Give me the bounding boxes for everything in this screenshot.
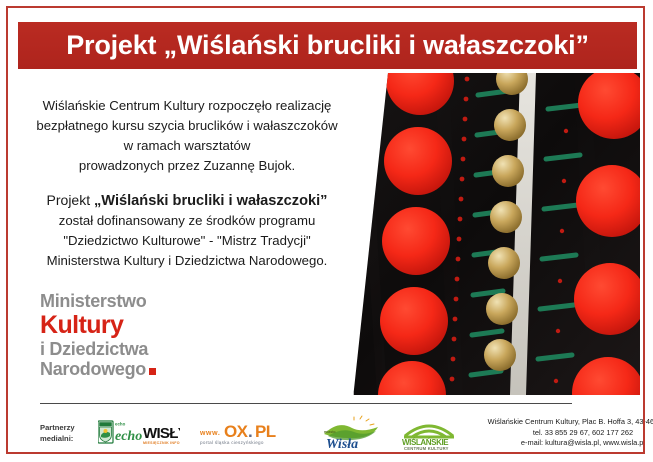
svg-text:miasto: miasto: [324, 430, 336, 434]
wisla-crest-icon: [98, 421, 113, 443]
svg-text:www.: www.: [200, 430, 220, 437]
funding-paragraph: Projekt „Wiślański brucliki i wałaszczok…: [8, 190, 366, 271]
funding-line-2: został dofinansowany ze środków programu: [8, 211, 366, 231]
ministry-logo-red-square: [149, 368, 156, 375]
ox-pl-logo[interactable]: www. OX . PL portal śląska cieszyńskiego: [200, 420, 290, 446]
media-partners-label: Partnerzy medialni:: [40, 422, 92, 444]
intro-paragraph: Wiślańskie Centrum Kultury rozpoczęło re…: [8, 96, 366, 176]
intro-line-4: prowadzonych przez Zuzannę Bujok.: [8, 156, 366, 176]
svg-text:PL: PL: [255, 422, 276, 441]
ministry-logo-line-4-text: Narodowego: [40, 359, 146, 379]
contact-email-web: e-mail: kultura@wisla.pl, www.wisla.pl: [478, 438, 653, 448]
contact-info: Wiślańskie Centrum Kultury, Plac B. Hoff…: [478, 417, 653, 448]
ministry-logo-line-2: Kultury: [40, 312, 156, 339]
funding-line-1-prefix: Projekt: [47, 192, 94, 208]
ministry-logo-line-1: Ministerstwo: [40, 292, 156, 311]
funding-line-3: "Dziedzictwo Kulturowe" - "Mistrz Tradyc…: [8, 231, 366, 251]
contact-address: Wiślańskie Centrum Kultury, Plac B. Hoff…: [478, 417, 653, 427]
intro-line-1: Wiślańskie Centrum Kultury rozpoczęło re…: [8, 96, 366, 116]
funding-line-4: Ministerstwa Kultury i Dziedzictwa Narod…: [8, 251, 366, 271]
intro-line-3: w ramach warsztatów: [8, 136, 366, 156]
svg-text:.: .: [248, 422, 253, 441]
svg-text:echo: echo: [115, 422, 126, 427]
svg-text:echo: echo: [115, 429, 142, 444]
folk-vest-photo: [352, 73, 640, 395]
svg-text:OX: OX: [224, 422, 249, 441]
wisla-town-logo[interactable]: miasto Wisła: [320, 415, 382, 451]
footer-divider: [40, 403, 572, 404]
wislanskie-centrum-kultury-logo[interactable]: WIŚLAŃSKIE CENTRUM KULTURY: [398, 415, 460, 451]
footer: Partnerzy medialni: echo echo WISŁY: [40, 412, 615, 454]
svg-text:MIESIĘCZNIK INFORMACYJNY: MIESIĘCZNIK INFORMACYJNY: [143, 441, 180, 445]
intro-line-2: bezpłatnego kursu szycia bruclików i wał…: [8, 116, 366, 136]
svg-text:WISŁY: WISŁY: [143, 425, 180, 442]
svg-text:Wisła: Wisła: [326, 437, 358, 451]
title-banner: Projekt „Wiślański brucliki i wałaszczok…: [18, 22, 637, 69]
svg-text:portal śląska cieszyńskiego: portal śląska cieszyńskiego: [200, 440, 264, 445]
svg-text:CENTRUM KULTURY: CENTRUM KULTURY: [404, 446, 449, 451]
echo-wisly-logo[interactable]: echo echo WISŁY MIESIĘCZNIK INFORMACYJNY: [98, 420, 180, 446]
media-partners-label-line-2: medialni:: [40, 433, 92, 444]
ministry-logo-line-3: i Dziedzictwa: [40, 340, 156, 359]
arch-icon: [405, 426, 453, 437]
funding-line-1: Projekt „Wiślański brucliki i wałaszczok…: [8, 190, 366, 211]
project-name-bold: „Wiślański brucliki i wałaszczoki”: [94, 193, 327, 209]
ministry-of-culture-logo: Ministerstwo Kultury i Dziedzictwa Narod…: [40, 292, 156, 379]
page-title: Projekt „Wiślański brucliki i wałaszczok…: [66, 30, 589, 61]
ministry-logo-line-4: Narodowego: [40, 360, 156, 379]
sun-rays-icon: [354, 416, 374, 425]
media-partners-label-line-1: Partnerzy: [40, 422, 92, 433]
poster-root: Projekt „Wiślański brucliki i wałaszczok…: [0, 0, 653, 462]
contact-phone: tel. 33 855 29 67, 602 177 262: [478, 428, 653, 438]
